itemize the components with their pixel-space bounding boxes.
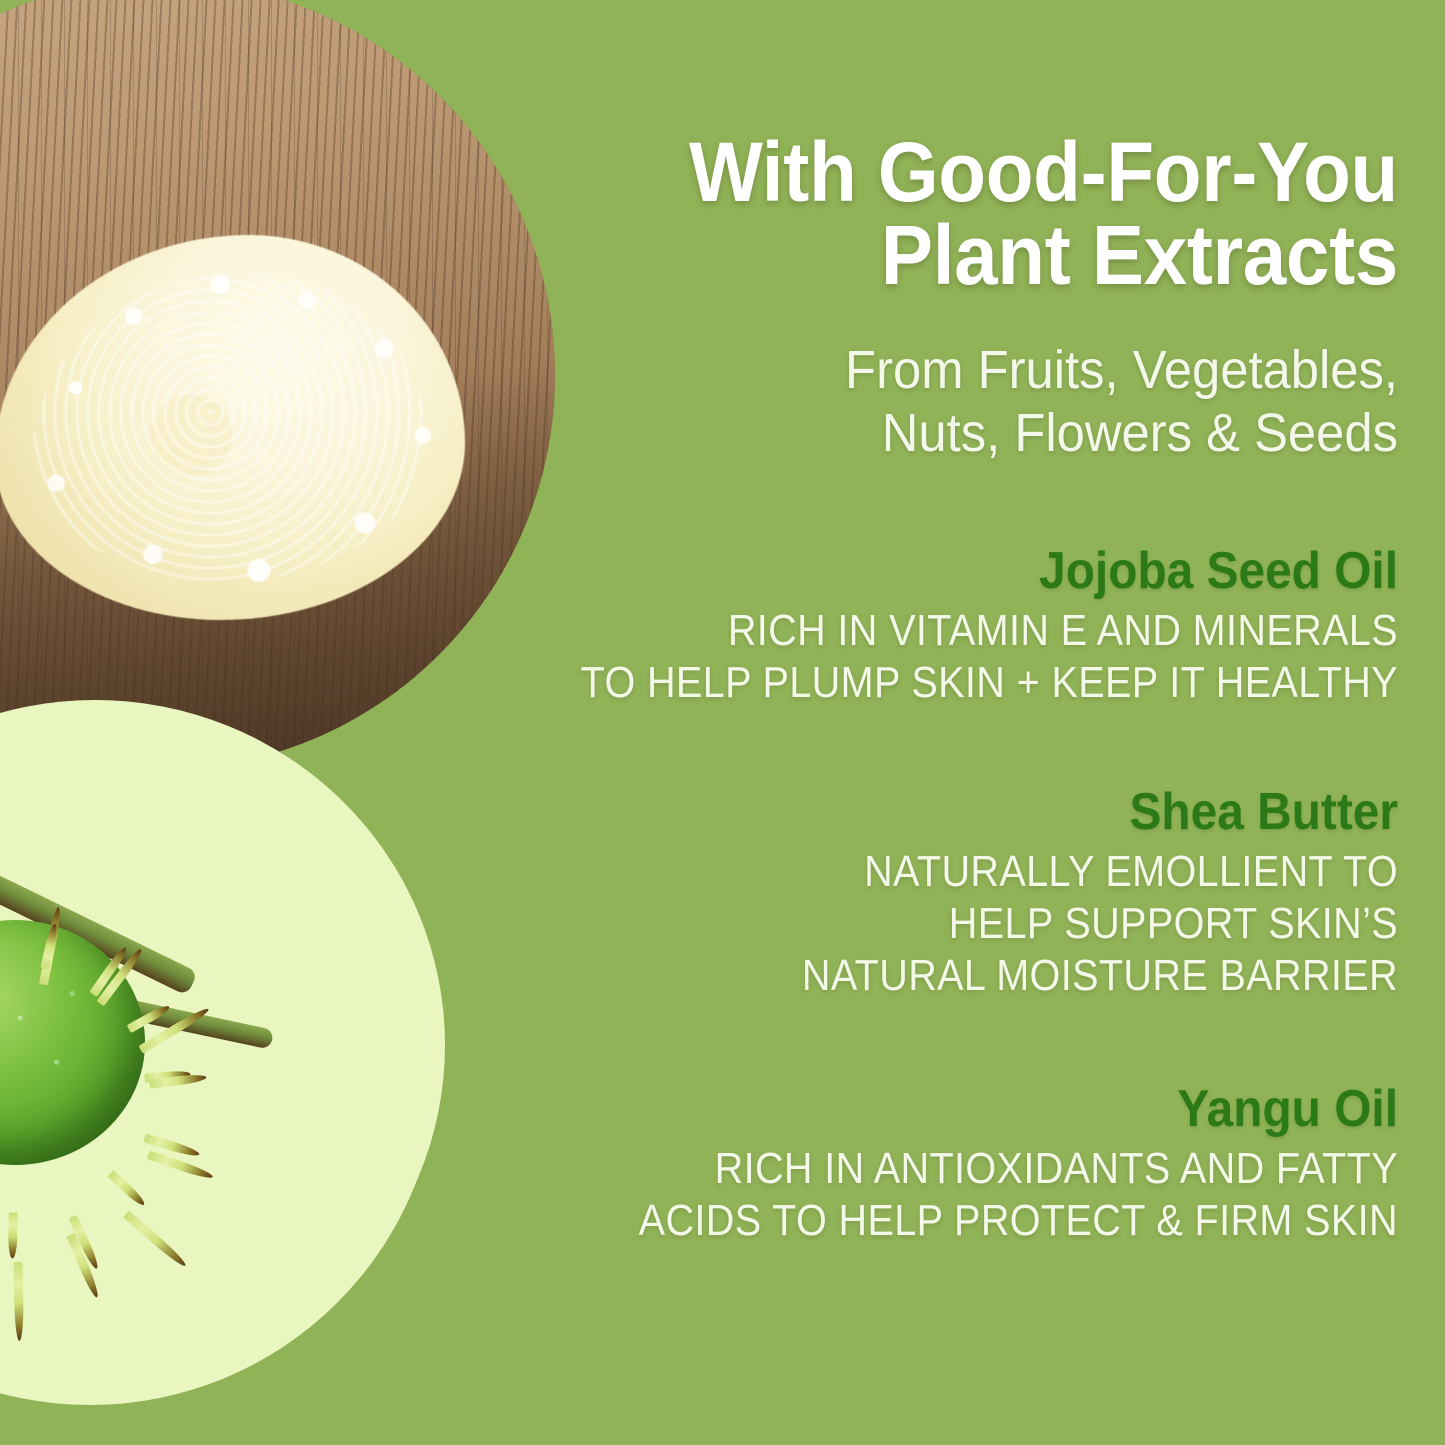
copy-column: With Good-For-You Plant Extracts From Fr… <box>430 0 1398 1445</box>
product-ingredients-infographic: With Good-For-You Plant Extracts From Fr… <box>0 0 1445 1445</box>
yangu-photo-circle <box>0 705 440 1405</box>
pod-spike <box>122 1210 188 1269</box>
page-title: With Good-For-You Plant Extracts <box>498 131 1398 297</box>
pod-spike <box>13 1261 23 1340</box>
pod-spike <box>107 1169 147 1207</box>
ingredient-description: NATURALLY EMOLLIENT TO HELP SUPPORT SKIN… <box>527 846 1398 1002</box>
yangu-pod-group <box>0 705 300 1405</box>
pod-spike <box>146 1150 213 1181</box>
pod-spike <box>7 1212 17 1258</box>
ingredient-block-shea-butter: Shea Butter NATURALLY EMOLLIENT TO HELP … <box>430 786 1398 1002</box>
ingredient-name: Shea Butter <box>507 786 1398 839</box>
ingredient-description: RICH IN ANTIOXIDANTS AND FATTY ACIDS TO … <box>527 1143 1398 1247</box>
ingredient-name: Yangu Oil <box>507 1083 1398 1136</box>
shea-butter-scoop <box>0 235 465 620</box>
pod-spikes <box>0 920 145 1165</box>
ingredient-block-yangu-oil: Yangu Oil RICH IN ANTIOXIDANTS AND FATTY… <box>430 1083 1398 1247</box>
ingredient-name: Jojoba Seed Oil <box>507 545 1398 598</box>
pod-spike <box>40 922 59 969</box>
page-subtitle: From Fruits, Vegetables, Nuts, Flowers &… <box>488 339 1398 464</box>
ingredient-block-jojoba-seed-oil: Jojoba Seed Oil RICH IN VITAMIN E AND MI… <box>430 545 1398 709</box>
yangu-fruit-pod <box>0 920 145 1165</box>
ingredient-description: RICH IN VITAMIN E AND MINERALS TO HELP P… <box>527 605 1398 709</box>
